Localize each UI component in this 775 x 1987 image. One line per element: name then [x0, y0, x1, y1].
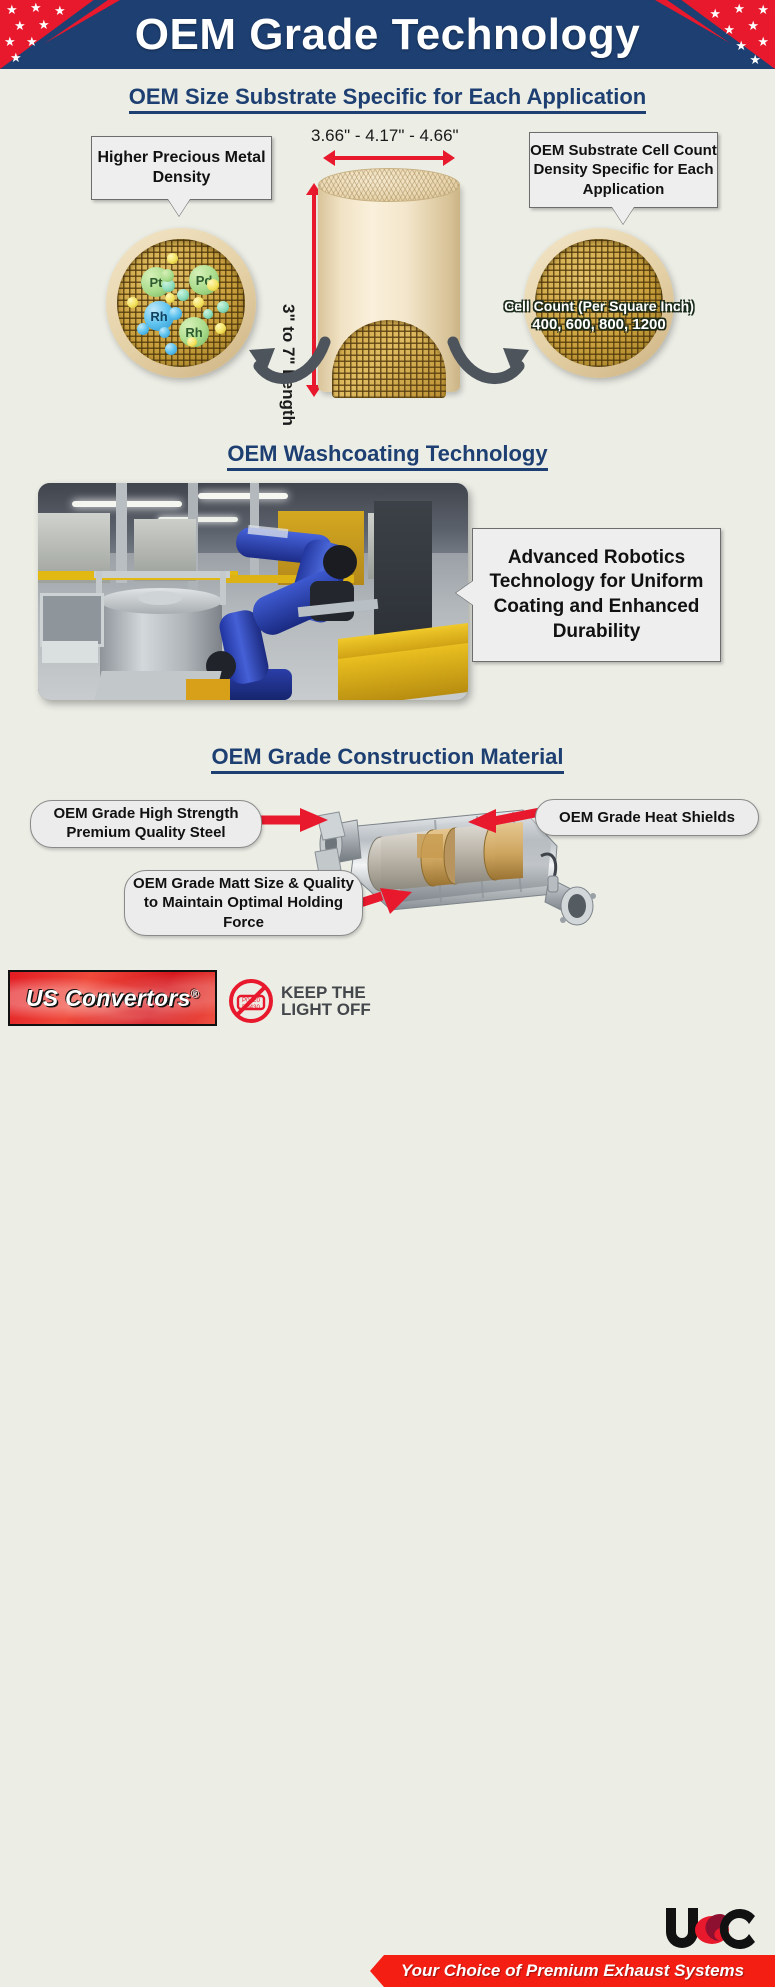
- diameter-label: 3.66" - 4.17" - 4.66": [311, 126, 459, 146]
- precious-metal-particle: [203, 309, 213, 319]
- arrow-to-left-circle-icon: [245, 336, 330, 398]
- callout-advanced-robotics: Advanced Robotics Technology for Uniform…: [472, 528, 721, 662]
- section-title-substrate: OEM Size Substrate Specific for Each App…: [0, 84, 775, 110]
- tagline-banner: Your Choice of Premium Exhaust Systems: [370, 1955, 775, 1987]
- substrate-cross-section-left: PtPdRhRh: [106, 228, 256, 378]
- header-banner: ★ ★ ★ ★ ★ ★ ★ ★ OEM Grade Technology ★ ★…: [0, 0, 775, 69]
- keep-light-line1: KEEP THE: [281, 984, 371, 1001]
- precious-metal-particle: [165, 293, 175, 303]
- diameter-arrow: [334, 156, 444, 160]
- brand-name: US Convertors®: [26, 985, 199, 1012]
- callout-higher-precious-metal-density: Higher Precious Metal Density: [91, 136, 272, 200]
- precious-metal-particle: [127, 297, 138, 308]
- precious-metal-particle: [159, 327, 170, 338]
- honeycomb-grid-left: PtPdRhRh: [117, 239, 245, 367]
- footer: US Convertors® P0420 P0430 KEEP THE LIGH…: [0, 960, 775, 1034]
- usc-logo[interactable]: [660, 1904, 760, 1952]
- precious-metal-particle: [207, 279, 219, 291]
- callout-cell-count-density: OEM Substrate Cell Count Density Specifi…: [529, 132, 718, 208]
- precious-metal-particle: [169, 307, 182, 320]
- callout-matt-size: OEM Grade Matt Size & Quality to Maintai…: [124, 870, 363, 936]
- precious-metal-particle: [215, 323, 226, 334]
- substrate-cylinder: [318, 168, 460, 398]
- precious-metal-particle: [137, 323, 149, 335]
- precious-metal-particle: [165, 343, 177, 355]
- callout-premium-steel: OEM Grade High Strength Premium Quality …: [30, 800, 262, 848]
- cell-count-values: 400, 600, 800, 1200: [499, 316, 699, 333]
- us-convertors-logo[interactable]: US Convertors®: [8, 970, 217, 1026]
- keep-the-light-off-badge: P0420 P0430 KEEP THE LIGHT OFF: [228, 978, 371, 1024]
- section-title-construction: OEM Grade Construction Material: [0, 744, 775, 770]
- precious-metal-particle: [187, 337, 197, 347]
- precious-metal-particle: [177, 289, 189, 301]
- arrow-to-right-circle-icon: [448, 336, 533, 398]
- precious-metal-particle: [193, 297, 204, 308]
- precious-metal-particle: [217, 301, 229, 313]
- svg-text:P0420: P0420: [242, 997, 260, 1004]
- svg-text:P0430: P0430: [242, 1004, 260, 1011]
- substrate-diagram: Higher Precious Metal Density OEM Substr…: [0, 118, 775, 418]
- precious-metal-particle: [167, 253, 178, 264]
- page-title: OEM Grade Technology: [0, 0, 775, 69]
- cell-count-title: Cell Count (Per Square Inch): [499, 298, 699, 314]
- infographic-page: ★ ★ ★ ★ ★ ★ ★ ★ OEM Grade Technology ★ ★…: [0, 0, 775, 1034]
- precious-metal-particle: [161, 269, 174, 282]
- robotics-photo: [38, 483, 468, 700]
- arrow-heat-shield-icon: [460, 808, 540, 834]
- arrow-steel-icon: [256, 808, 330, 834]
- callout-heat-shields: OEM Grade Heat Shields: [535, 799, 759, 836]
- no-check-engine-light-icon: P0420 P0430: [228, 978, 274, 1024]
- keep-light-line2: LIGHT OFF: [281, 1001, 371, 1018]
- section-title-washcoating: OEM Washcoating Technology: [0, 441, 775, 467]
